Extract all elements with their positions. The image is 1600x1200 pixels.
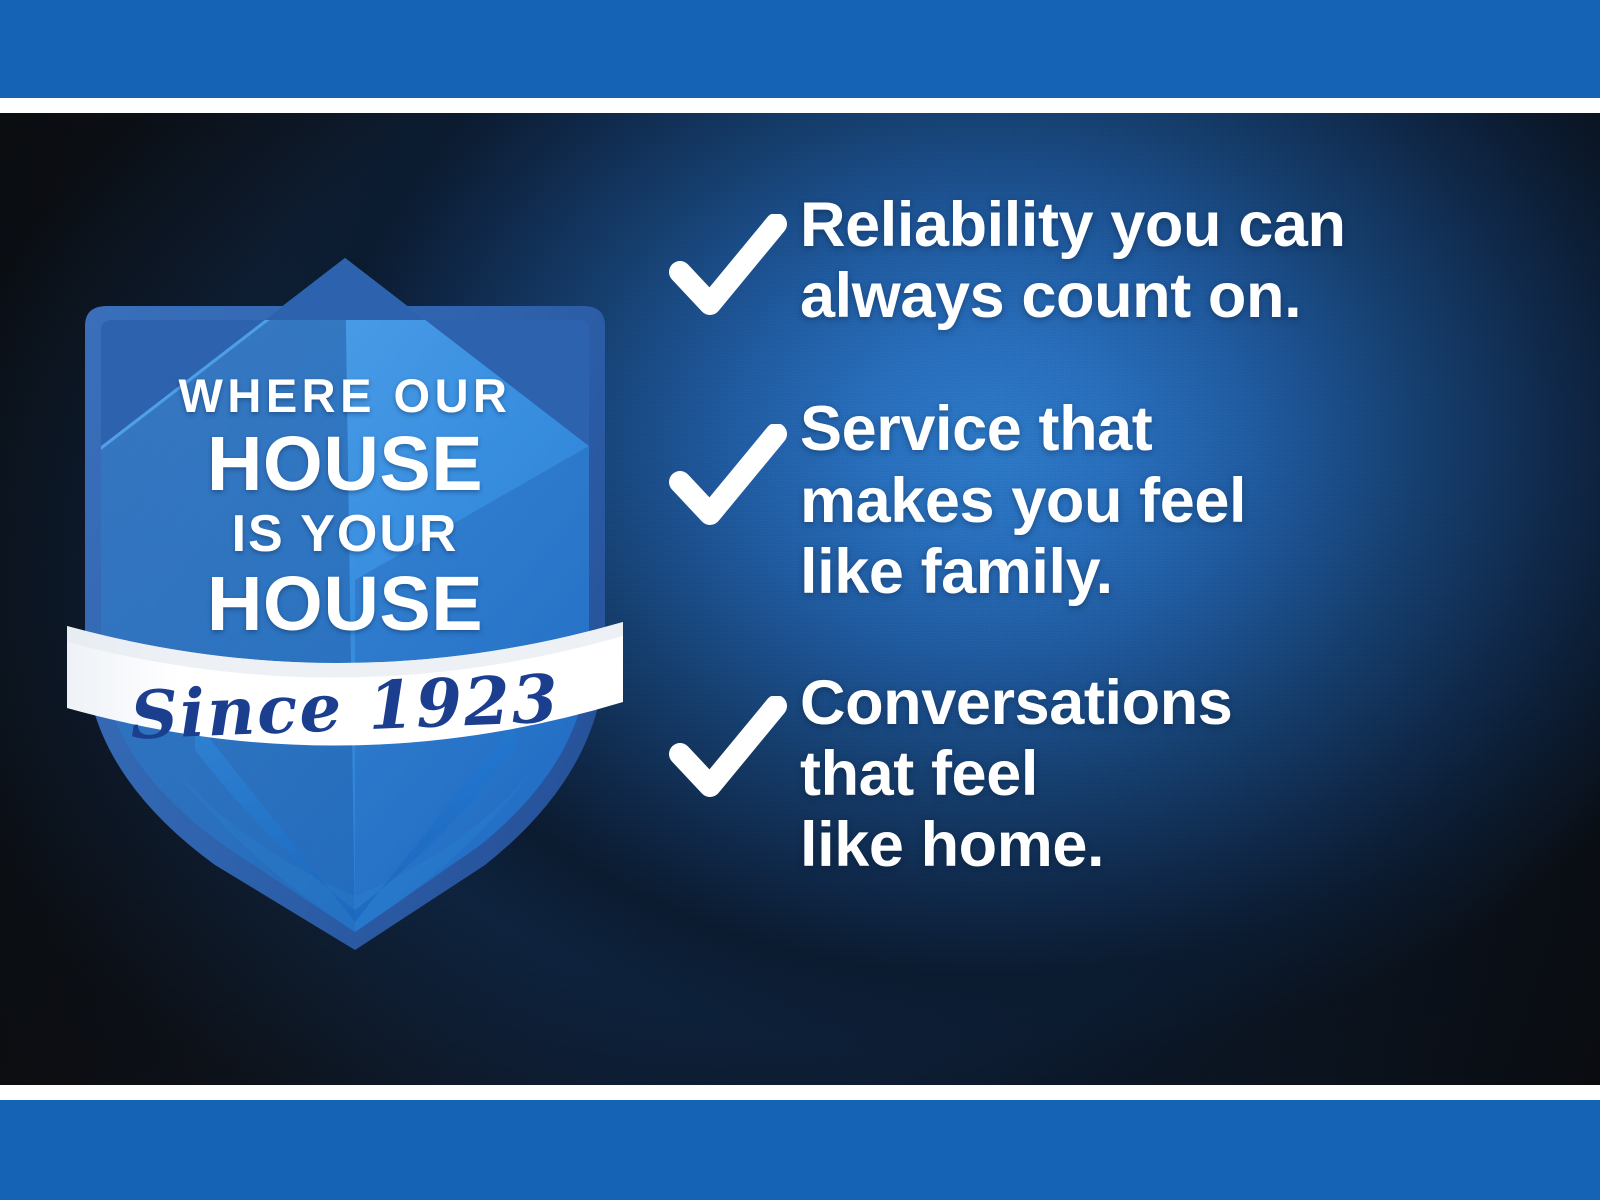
checkmark-icon	[668, 394, 800, 534]
checkmark-icon	[668, 668, 800, 806]
shield-logo: WHERE OUR HOUSE IS YOUR HOUSE Since 1923	[55, 250, 635, 950]
list-item: Reliability you can always count on.	[668, 190, 1548, 332]
benefit-text: Service that makes you feel like family.	[800, 394, 1548, 608]
promo-poster: WHERE OUR HOUSE IS YOUR HOUSE Since 1923…	[0, 0, 1600, 1200]
top-brand-bar	[0, 0, 1600, 98]
logo-line-where-our: WHERE OUR	[55, 372, 635, 419]
top-white-hairline	[0, 98, 1600, 113]
bottom-brand-bar	[0, 1100, 1600, 1200]
benefit-text: Conversations that feel like home.	[800, 668, 1548, 882]
logo-line-house-1: HOUSE	[55, 426, 635, 503]
checkmark-icon	[668, 190, 800, 324]
benefit-text: Reliability you can always count on.	[800, 190, 1548, 332]
logo-line-house-2: HOUSE	[55, 566, 635, 643]
list-item: Conversations that feel like home.	[668, 668, 1548, 882]
logo-line-is-your: IS YOUR	[55, 508, 635, 560]
list-item: Service that makes you feel like family.	[668, 394, 1548, 608]
benefits-list: Reliability you can always count on. Ser…	[668, 190, 1548, 882]
bottom-white-hairline	[0, 1085, 1600, 1100]
